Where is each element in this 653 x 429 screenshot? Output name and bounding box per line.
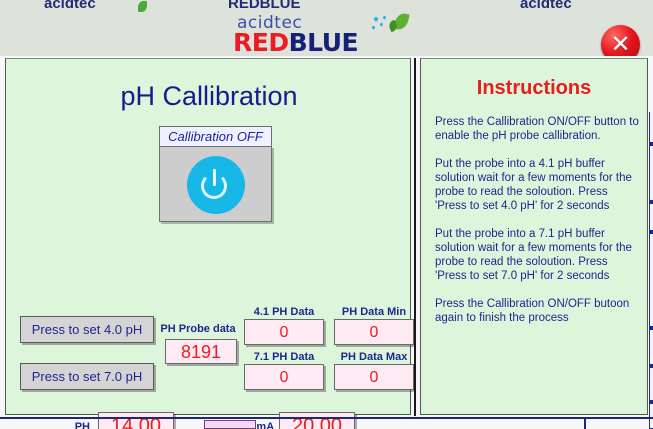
bleed-mark (649, 230, 653, 234)
ph-data-min-label: PH Data Min (334, 306, 414, 318)
ph-probe-data-value: 8191 (165, 339, 237, 364)
ph-71-data-value: 0 (244, 364, 324, 390)
bleed-mark (649, 142, 653, 146)
right-edge-bleed (649, 112, 653, 429)
bleed-fragment-right: acidtec (520, 0, 572, 12)
calibration-toggle-body (159, 146, 272, 222)
bleed-mark (649, 200, 653, 204)
ph-probe-data-label: PH Probe data (157, 323, 239, 335)
ph-value: 14.00 (98, 412, 174, 429)
water-droplet-icon (371, 25, 375, 29)
brand-logo: acidtec REDBLUE (233, 13, 423, 55)
ph-data-max-label: PH Data Max (334, 351, 414, 363)
ph-probe-ma-value: 20.00 (279, 412, 355, 429)
ph-label: PH (66, 421, 90, 429)
water-droplet-icon (382, 15, 386, 19)
instructions-body: Press the Callibration ON/OFF button to … (435, 115, 640, 339)
instructions-panel: Instructions Press the Callibration ON/O… (420, 58, 648, 415)
instruction-step-2: Put the probe into a 4.1 pH buffer solut… (435, 157, 640, 213)
app-header: acidtec REDBLUE ✕ (0, 12, 653, 56)
ph-data-min-value: 0 (334, 319, 414, 345)
bleed-fragment-mid: REDBLUE (228, 0, 301, 12)
set-7-ph-button[interactable]: Press to set 7.0 pH (20, 363, 154, 390)
hmi-screen: acidtec REDBLUE acidtec acidtec REDBLUE … (0, 0, 653, 429)
ph-41-data-value: 0 (244, 319, 324, 345)
bleed-mark (649, 326, 653, 330)
calibration-status-label: Callibration OFF (159, 126, 272, 146)
power-bar (213, 169, 216, 186)
calibration-toggle-group: Callibration OFF (159, 126, 274, 224)
ph-41-data-label: 4.1 PH Data (244, 306, 324, 318)
bleed-leaf-icon (138, 1, 147, 12)
brand-red-word: RED (233, 28, 289, 57)
instruction-step-3: Put the probe into a 7.1 pH buffer solut… (435, 227, 640, 283)
set-4-ph-button[interactable]: Press to set 4.0 pH (20, 316, 154, 343)
bottom-bleed-chip (204, 420, 256, 429)
instruction-step-1: Press the Callibration ON/OFF button to … (435, 115, 640, 143)
top-bleed-strip: acidtec REDBLUE acidtec (0, 0, 653, 12)
page-title: pH Callibration (6, 81, 412, 112)
ph-data-max-value: 0 (334, 364, 414, 390)
bleed-mark (649, 400, 653, 404)
bleed-fragment-left: acidtec (44, 0, 96, 12)
water-droplet-icon (379, 22, 383, 26)
ph-71-data-label: 7.1 PH Data (244, 351, 324, 363)
bleed-mark (649, 364, 653, 368)
calibration-power-button[interactable] (187, 156, 245, 214)
brand-blue-word: BLUE (289, 28, 358, 57)
brand-redblue-text: REDBLUE (233, 30, 358, 55)
instructions-title: Instructions (421, 77, 647, 100)
power-icon (201, 169, 231, 199)
bottom-bleed-tick (584, 419, 586, 429)
content-area: pH Callibration Callibration OFF Press t… (0, 56, 653, 429)
instruction-step-4: Press the Callibration ON/OFF butoon aga… (435, 297, 640, 325)
calibration-panel: pH Callibration Callibration OFF Press t… (5, 58, 411, 415)
water-droplet-icon (373, 16, 379, 22)
bottom-divider (0, 417, 653, 419)
panel-divider (414, 58, 416, 416)
